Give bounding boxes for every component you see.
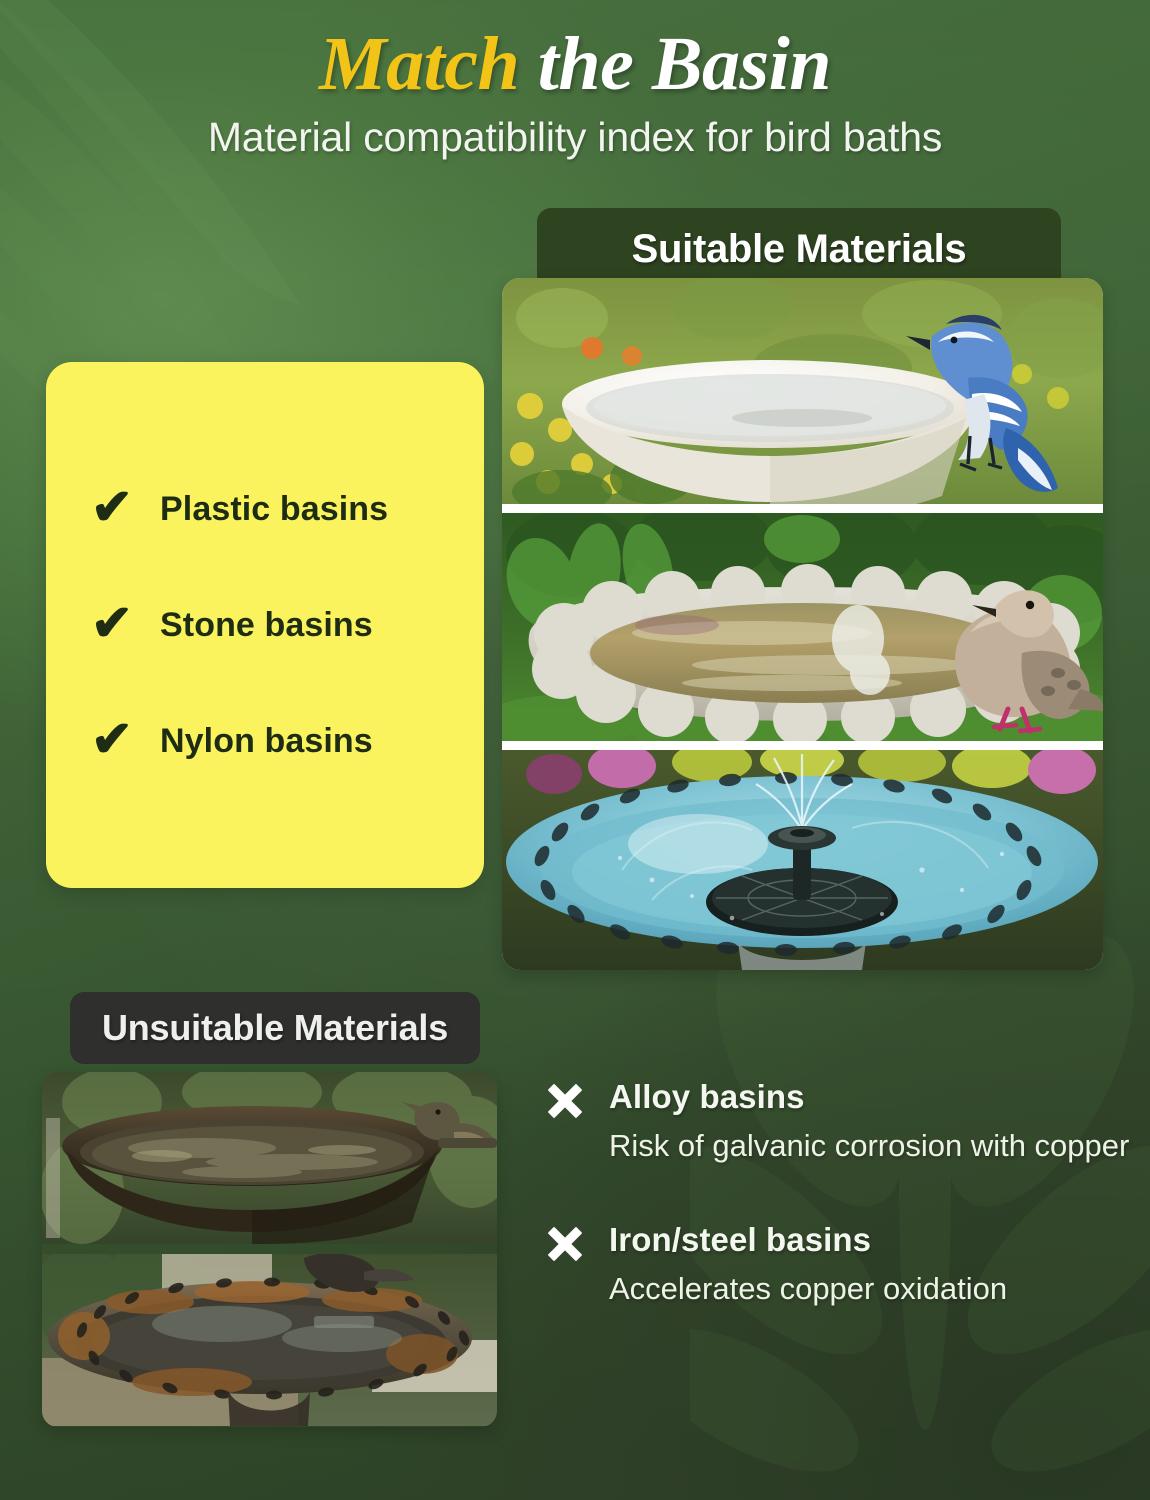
unsuitable-photo-stack (42, 1072, 497, 1427)
suitable-materials-card: ✔ Plastic basins ✔ Stone basins ✔ Nylon … (46, 362, 484, 888)
check-icon: ✔ (88, 482, 136, 532)
check-icon: ✔ (88, 714, 136, 764)
suitable-materials-badge-label: Suitable Materials (632, 227, 967, 272)
suitable-item-label: Stone basins (160, 606, 373, 645)
unsuitable-item-head: Alloy basins (545, 1078, 1135, 1118)
unsuitable-item-description: Risk of galvanic corrosion with copper (609, 1127, 1135, 1165)
page-title: Match the Basin (0, 0, 1150, 104)
title-word-highlight: Match (319, 22, 519, 106)
suitable-item-label: Nylon basins (160, 722, 373, 761)
photo-teal-glazed-birdbath-with-solar-fountain (502, 750, 1103, 970)
infographic-canvas: Match the Basin Material compatibility i… (0, 0, 1150, 1500)
unsuitable-item-title: Iron/steel basins (609, 1221, 871, 1259)
suitable-item-label: Plastic basins (160, 490, 388, 529)
list-item: ✔ Nylon basins (88, 716, 454, 766)
close-x-icon (545, 1224, 585, 1264)
photo-dark-bronze-alloy-birdbath (42, 1072, 497, 1244)
suitable-photo-stack (502, 278, 1103, 970)
photo-white-ceramic-birdbath-with-blue-jay (502, 278, 1103, 504)
close-x-icon (545, 1081, 585, 1121)
list-item: Alloy basins Risk of galvanic corrosion … (545, 1078, 1135, 1165)
unsuitable-item-title: Alloy basins (609, 1078, 805, 1116)
list-item: Iron/steel basins Accelerates copper oxi… (545, 1221, 1135, 1308)
list-item: ✔ Plastic basins (88, 484, 454, 534)
title-word-rest: the Basin (538, 22, 831, 106)
unsuitable-materials-list: Alloy basins Risk of galvanic corrosion … (545, 1078, 1135, 1364)
list-item: ✔ Stone basins (88, 600, 454, 650)
unsuitable-materials-badge: Unsuitable Materials (70, 992, 480, 1064)
unsuitable-materials-badge-label: Unsuitable Materials (102, 1007, 448, 1049)
photo-scalloped-stone-birdbath-with-mourning-dove (502, 513, 1103, 741)
page-subtitle: Material compatibility index for bird ba… (0, 114, 1150, 161)
photo-rusted-iron-steel-birdbath (42, 1254, 497, 1426)
unsuitable-item-head: Iron/steel basins (545, 1221, 1135, 1261)
header: Match the Basin Material compatibility i… (0, 0, 1150, 161)
unsuitable-item-description: Accelerates copper oxidation (609, 1270, 1135, 1308)
check-icon: ✔ (88, 598, 136, 648)
